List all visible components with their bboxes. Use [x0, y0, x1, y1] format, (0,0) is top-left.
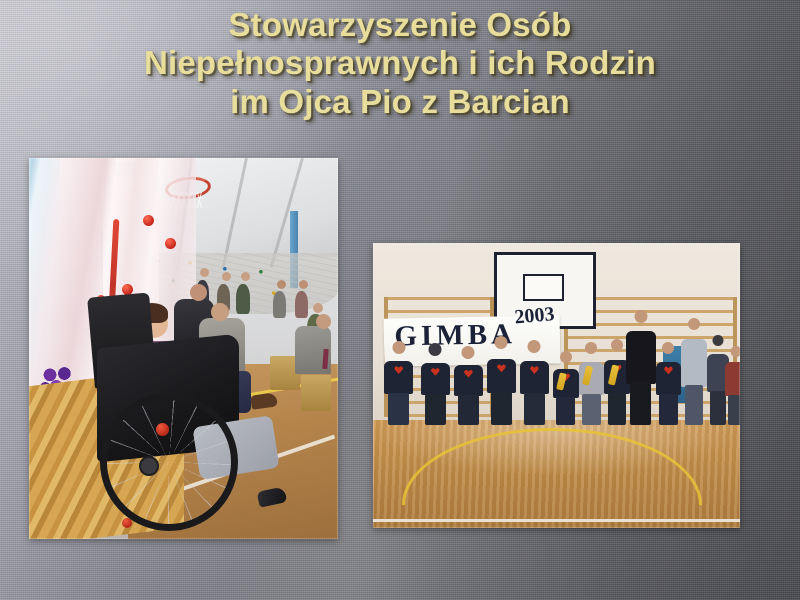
slide-title: Stowarzyszenie Osób Niepełnosprawnych i …: [0, 6, 800, 121]
heart-logo-icon: [530, 366, 539, 374]
member-legs: [388, 393, 409, 426]
photo-gym-ceremony-content: [29, 158, 338, 539]
member-shirt: [487, 359, 516, 393]
member-legs: [491, 392, 512, 426]
member-legs: [582, 394, 600, 426]
ceremonial-sash: [557, 373, 568, 391]
floor-baseline: [373, 519, 740, 522]
wheelchair-red-marker: [122, 518, 132, 528]
member-head: [560, 351, 572, 363]
member-head: [585, 342, 597, 354]
group-member: [520, 339, 549, 426]
group-member: [579, 342, 605, 426]
gym-chair: [301, 375, 331, 411]
member-legs: [659, 394, 677, 426]
seated-guest-head: [190, 284, 207, 301]
member-shirt: [656, 362, 682, 396]
heart-logo-icon: [664, 366, 673, 374]
group-row: [373, 294, 740, 425]
background-person: [236, 284, 250, 314]
member-shirt: [520, 361, 549, 394]
member-head: [528, 340, 541, 353]
member-legs: [710, 391, 726, 426]
member-legs: [524, 393, 545, 426]
photo-gimba-group-content: GIMBA 2003: [373, 243, 740, 528]
group-member: [725, 344, 740, 425]
standing-teen: [681, 318, 707, 425]
member-shirt: [725, 362, 740, 396]
adult-jacket: [626, 331, 655, 384]
heart-logo-icon: [464, 370, 473, 378]
heart-logo-icon: [431, 368, 440, 376]
background-person-head: [299, 280, 308, 289]
member-head: [611, 339, 623, 351]
member-shirt: [553, 369, 579, 398]
slide-title-line-1: Stowarzyszenie Osób: [18, 6, 782, 44]
photo-gimba-group[interactable]: GIMBA 2003: [373, 243, 740, 528]
member-legs: [728, 395, 740, 426]
member-shirt: [421, 363, 450, 395]
group-member: [454, 344, 483, 425]
teen-sweater: [681, 339, 707, 386]
member-legs: [556, 397, 574, 426]
member-legs: [458, 395, 479, 426]
background-person-head: [313, 303, 323, 313]
heart-logo-icon: [394, 366, 403, 374]
background-person: [273, 291, 286, 318]
member-head: [392, 341, 405, 354]
member-head: [712, 335, 723, 346]
teen-legs: [685, 385, 703, 426]
member-head: [731, 346, 740, 357]
photo-gym-ceremony[interactable]: [29, 158, 338, 539]
member-head: [429, 343, 442, 356]
teen-head: [688, 318, 700, 330]
member-shirt: [454, 365, 483, 396]
necktie: [322, 348, 328, 368]
member-head: [462, 346, 475, 359]
presentation-slide: Stowarzyszenie Osób Niepełnosprawnych i …: [0, 0, 800, 600]
group-member: [656, 342, 682, 426]
seated-guest-head: [211, 303, 229, 321]
adult-legs: [630, 382, 651, 426]
group-member: [553, 349, 579, 425]
background-person-head: [241, 272, 250, 281]
wheelchair-red-marker: [156, 423, 169, 436]
wheelchair-wheel: [100, 393, 238, 531]
member-head: [495, 336, 508, 349]
adult-head: [634, 310, 647, 323]
member-legs: [425, 394, 446, 426]
wheelchair-hub: [139, 456, 159, 476]
group-member: [384, 339, 413, 426]
background-person: [295, 291, 308, 318]
member-legs: [608, 393, 626, 426]
group-member: [487, 336, 516, 425]
group-member: [421, 342, 450, 426]
heart-logo-icon: [497, 364, 506, 372]
ceremonial-sash: [608, 364, 619, 385]
member-head: [662, 342, 674, 354]
red-flower-decoration: [165, 238, 176, 249]
ceremonial-sash: [582, 366, 593, 387]
standing-adult: [626, 310, 655, 425]
slide-title-line-2: Niepełnosprawnych i ich Rodzin: [18, 44, 782, 82]
slide-title-line-3: im Ojca Pio z Barcian: [18, 83, 782, 121]
member-shirt-light: [579, 362, 605, 396]
member-shirt: [384, 361, 413, 394]
